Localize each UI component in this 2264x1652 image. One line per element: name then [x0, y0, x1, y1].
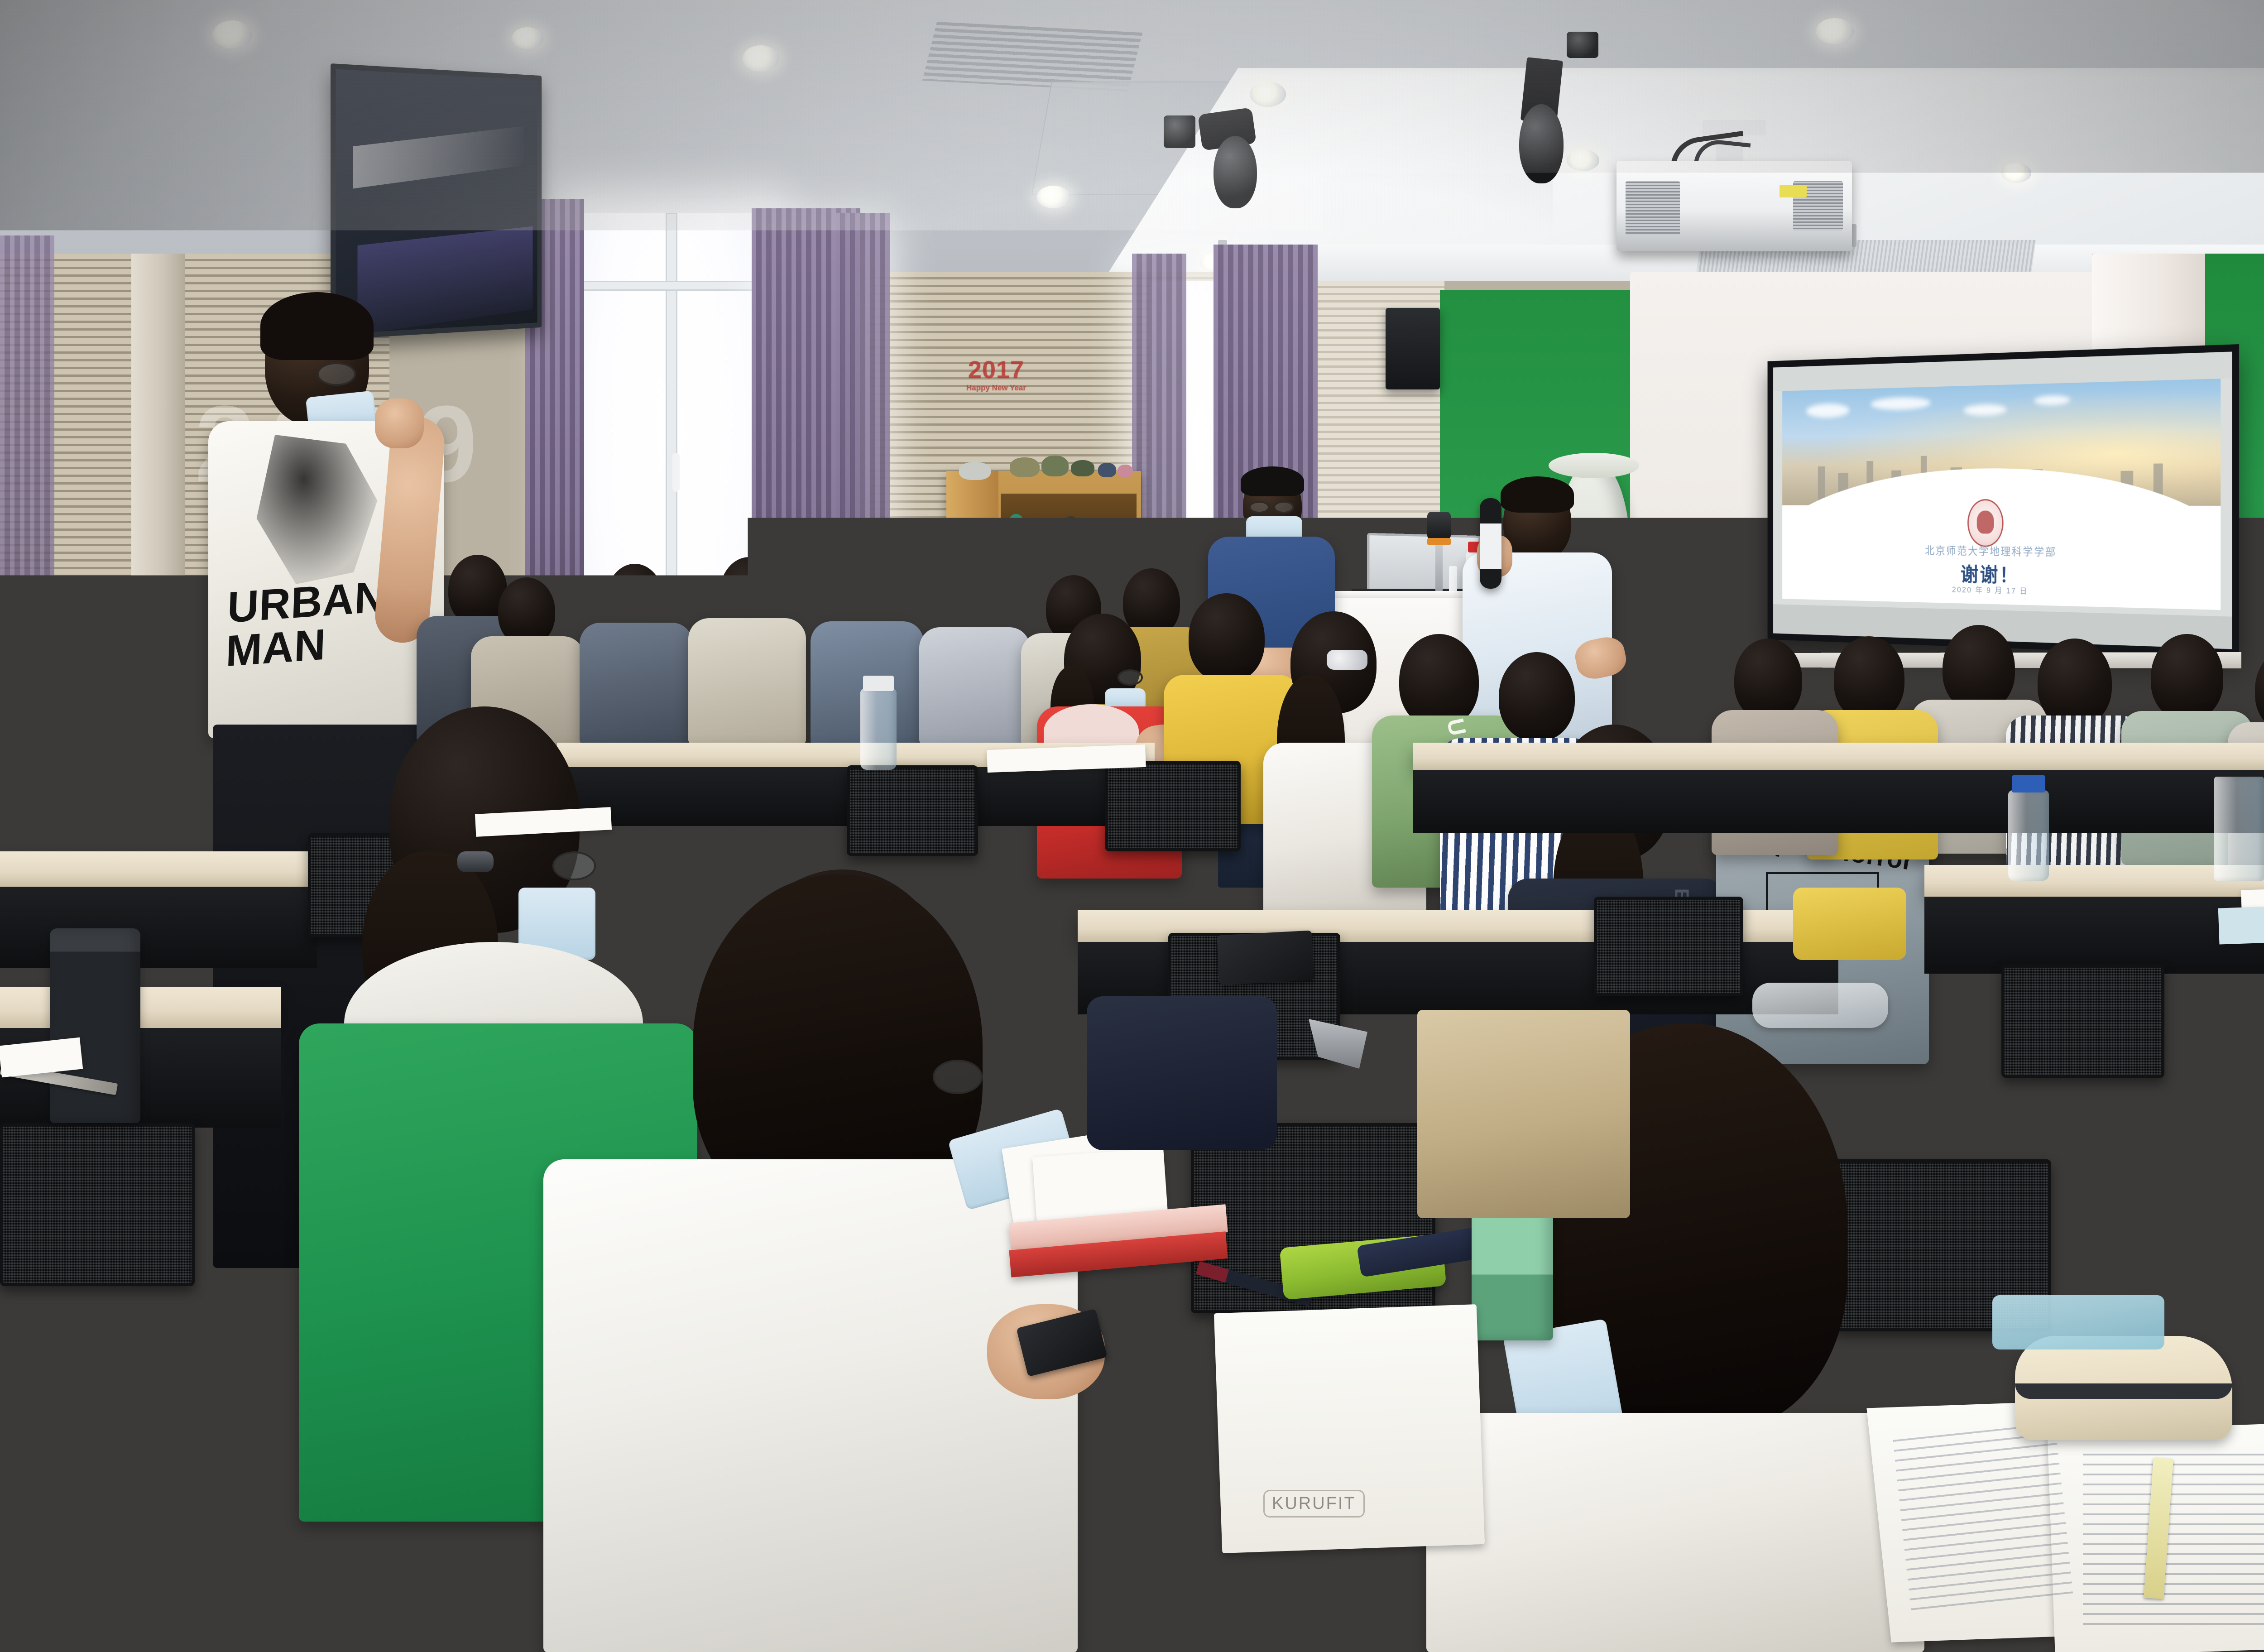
audience-head [2038, 639, 2112, 726]
desk-front-panel [1413, 770, 2264, 833]
university-seal-logo-icon [1967, 499, 2003, 547]
foreground-top-right [1426, 1413, 1924, 1652]
audience-head [1834, 636, 1904, 720]
ceiling-downlight [213, 20, 252, 48]
desk-front-panel [1924, 897, 2264, 974]
desk-row-right [1924, 865, 2264, 897]
desk-tote-bag [1417, 1010, 1630, 1218]
hair-tie [457, 851, 494, 872]
shelf-figurine [1014, 589, 1032, 616]
desk-water-bottle[interactable] [2008, 790, 2049, 881]
desk-smartphone[interactable] [1217, 931, 1314, 985]
podium-microphone-ring [1427, 538, 1451, 545]
presentation-slide: 北京师范大学地理科学学部 谢谢！ 2020 年 9 月 17 日 [1782, 379, 2221, 610]
chair-mount-bracket [1309, 1019, 1367, 1069]
projector-vent [1626, 181, 1680, 235]
shoe-sole-stripe [2015, 1383, 2232, 1399]
projector-label [1780, 185, 1807, 197]
audience-glasses-icon [1118, 669, 1143, 686]
desk-row-left [0, 851, 317, 887]
shelf-figurine [1098, 463, 1116, 477]
desk-backpack [1087, 996, 1277, 1150]
wall-speaker [1386, 308, 1440, 389]
shelf-figurine [1107, 528, 1123, 547]
ceiling-downlight [512, 27, 543, 49]
standing-student-hand [375, 399, 424, 448]
desk-notebook-blue [2218, 903, 2264, 944]
ceiling-downlight [2001, 163, 2031, 183]
handheld-microphone[interactable] [1480, 498, 1501, 589]
audience-head-striped [1499, 652, 1575, 741]
standing-student-glasses-icon [317, 362, 356, 386]
new-year-year: 2017 [955, 358, 1037, 382]
shelf-figurine [1084, 523, 1104, 546]
audience-torso [688, 618, 806, 745]
ceiling-spotlight [1214, 136, 1257, 208]
window-handle[interactable] [672, 453, 680, 492]
ceiling-projector-sensor [1567, 32, 1598, 58]
shelf-figurine [1041, 456, 1069, 476]
notebook-brand-label: KURUFIT [1263, 1490, 1365, 1518]
desk-drinking-glass[interactable] [2214, 777, 2264, 881]
audience-head [2151, 634, 2223, 720]
desk-snack-bag [1752, 983, 1888, 1028]
projection-screen: 北京师范大学地理科学学部 谢谢！ 2020 年 9 月 17 日 [1773, 352, 2232, 649]
desk-travel-mug[interactable] [50, 928, 140, 1123]
projection-screen-frame: 北京师范大学地理科学学部 谢谢！ 2020 年 9 月 17 日 [1768, 344, 2239, 657]
curtain-far-left [0, 235, 54, 770]
shelf-figurine [1062, 516, 1080, 545]
bottle-cap [140, 688, 182, 709]
ceiling-downlight [1037, 186, 1070, 208]
audience-head [1943, 625, 2015, 711]
lecture-hall-photo: 2019 2017 Happy New Year [0, 0, 2264, 1652]
foreground-glasses-icon [933, 1060, 983, 1094]
bottle-cap [863, 676, 894, 691]
chair-back[interactable] [847, 765, 978, 856]
ceiling-downlight [1567, 149, 1599, 171]
window-frame-transom [575, 281, 765, 291]
host-hair [1241, 466, 1304, 496]
shelf-figurine [1010, 457, 1040, 477]
audience-head [1734, 639, 1802, 720]
bottle-cap [2012, 775, 2045, 792]
textbook-text-lines [1893, 1423, 2074, 1615]
shelf-figurine [1118, 465, 1133, 477]
audience-head [946, 568, 1002, 635]
foreground-white-shirt [543, 1159, 1078, 1652]
ceiling-downlight [1250, 82, 1286, 107]
shelf-figurine [1026, 525, 1037, 546]
chair-back[interactable] [2001, 965, 2164, 1078]
audience-head [607, 564, 663, 631]
vase-center-mouth [1549, 453, 1639, 478]
seal-inner-mark [1977, 511, 1994, 534]
host-glasses-icon [1249, 501, 1270, 514]
desk-water-bottle[interactable] [136, 706, 186, 811]
desk-front-panel [0, 887, 317, 968]
chair-back[interactable] [1594, 897, 1743, 996]
chair-back[interactable] [0, 1123, 195, 1286]
hair-clip [1327, 650, 1367, 670]
audience-head-green-tee [1399, 634, 1479, 727]
new-year-wall-sign: 2017 Happy New Year [955, 358, 1037, 417]
ceiling-air-vent-left [922, 22, 1142, 91]
shelf-figurine [1007, 514, 1025, 542]
audience-torso [580, 623, 693, 745]
desk-water-bottle[interactable] [860, 688, 897, 770]
host-glasses-icon [1273, 501, 1294, 514]
audience-head [498, 577, 555, 645]
ceiling-downlight [1816, 18, 1854, 44]
desk-row-mid-right [1413, 743, 2264, 770]
new-year-greeting: Happy New Year [955, 382, 1037, 394]
desk-row-left-lower [0, 987, 281, 1028]
foreground-glasses-icon [552, 851, 596, 880]
textbook-text-lines [2083, 1454, 2264, 1626]
ceiling-downlight [743, 45, 779, 72]
shelf-figurine [1124, 529, 1137, 546]
desk-tissue-pack [1992, 1295, 2164, 1349]
audience-head-yellow [1189, 593, 1265, 682]
desk-yellow-pouch [1793, 888, 1906, 960]
audience-torso [919, 627, 1030, 745]
shelf-figurine [1071, 460, 1094, 476]
chair-back[interactable] [1105, 761, 1241, 851]
shelf-figurine [1041, 521, 1057, 546]
audience-head [1123, 568, 1180, 636]
audience-head [720, 557, 779, 628]
audience-head [838, 562, 896, 630]
standing-student-hair [260, 292, 374, 360]
ceiling-small-camera [1164, 115, 1195, 148]
shelf-figurine [959, 462, 991, 480]
podium-microphone-head [1427, 512, 1451, 540]
presenter-hair [1501, 476, 1574, 513]
ceiling-dome-camera [1519, 104, 1564, 183]
